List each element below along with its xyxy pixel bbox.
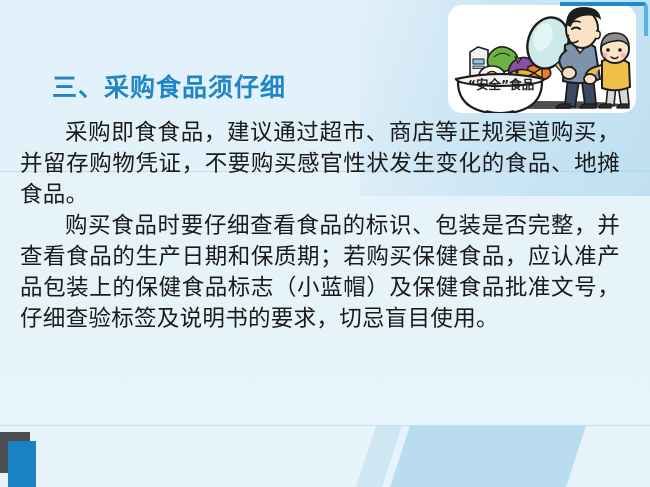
food-safety-illustration [448,5,636,113]
illustration-card [448,5,636,113]
footer-square-blue [8,441,36,487]
slide-canvas: 三、采购食品须仔细 采购即食食品，建议通过超市、商店等正规渠道购买，并留存购物凭… [0,0,650,487]
paragraph-1: 采购即食食品，建议通过超市、商店等正规渠道购买，并留存购物凭证，不要购买感官性状… [20,118,620,211]
illustration-corner-bar [560,2,628,6]
body-content: 采购即食食品，建议通过超市、商店等正规渠道购买，并留存购物凭证，不要购买感官性状… [20,118,620,335]
illustration-corner-accent [621,2,648,36]
paragraph-2: 购买食品时要仔细查看食品的标识、包装是否完整，并查看食品的生产日期和保质期；若购… [20,211,620,335]
page-title: 三、采购食品须仔细 [52,68,286,104]
bowl-label: “安全”食品 [455,74,547,93]
footer-diagonal-wide [390,426,586,487]
